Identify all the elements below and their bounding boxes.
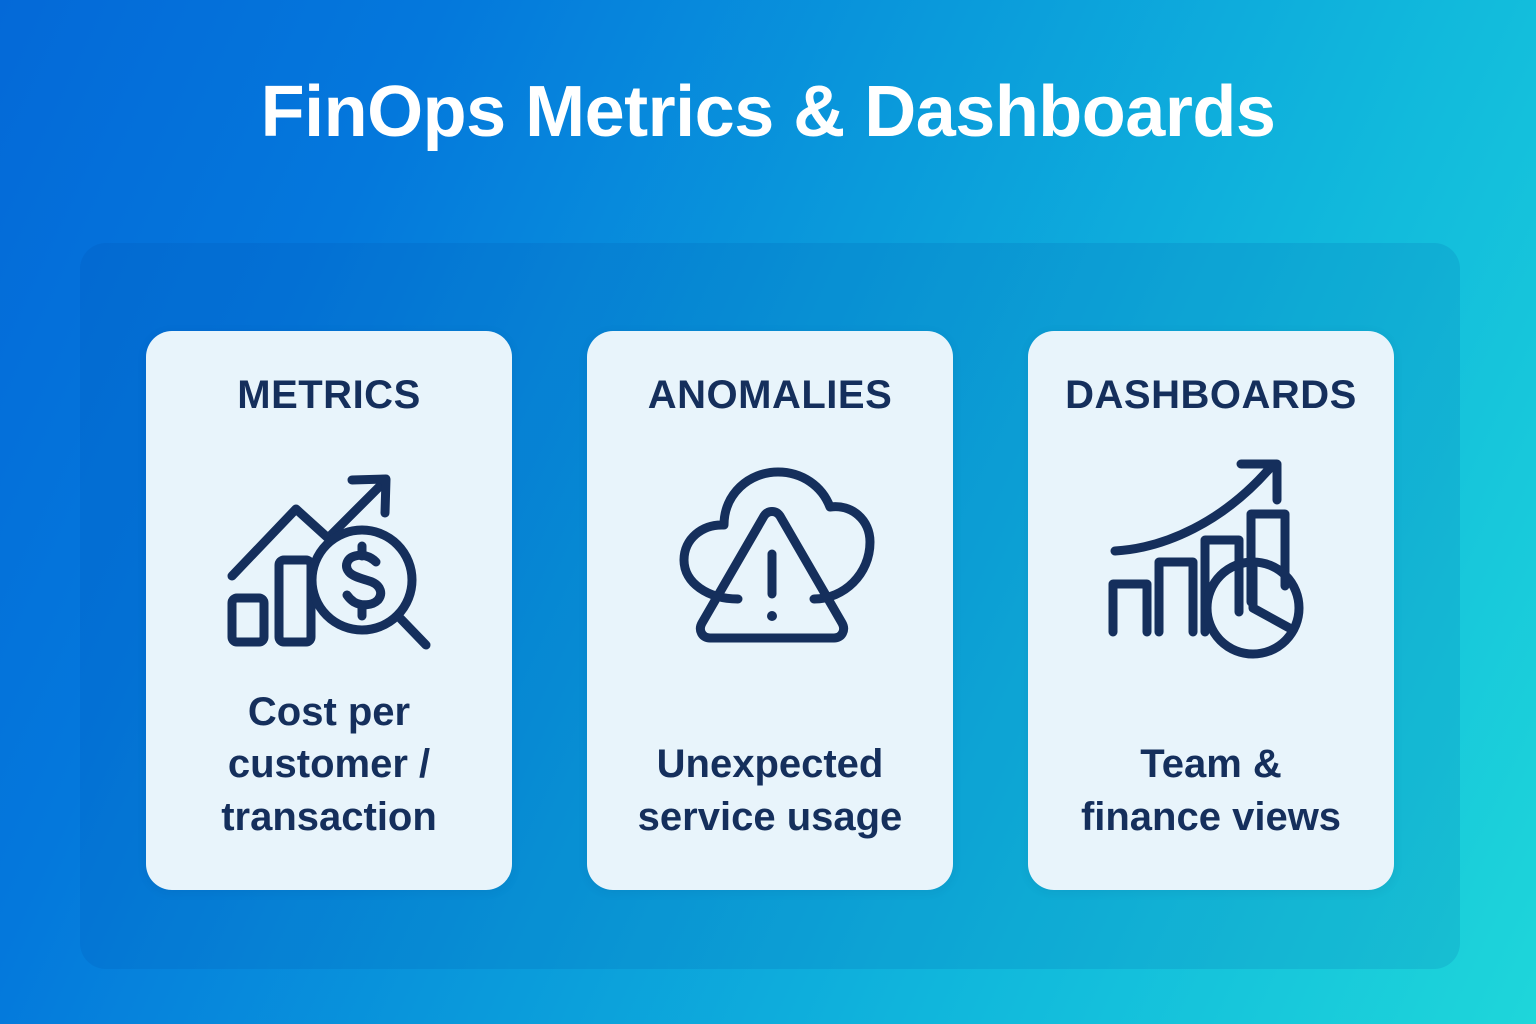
page-title: FinOps Metrics & Dashboards <box>261 76 1276 148</box>
card-anomalies-body: Unexpected service usage <box>603 738 937 844</box>
card-metrics-body: Cost per customer / transaction <box>162 686 496 844</box>
card-dashboards-heading: DASHBOARDS <box>1065 375 1357 415</box>
cards-row: METRICS Cost per customer / transac <box>146 331 1394 890</box>
cloud-warning-icon <box>664 457 876 657</box>
growth-chart-dollar-magnifier-icon <box>224 457 434 657</box>
card-metrics-heading: METRICS <box>237 375 421 415</box>
card-dashboards-body: Team & finance views <box>1044 738 1378 844</box>
card-anomalies-heading: ANOMALIES <box>648 375 893 415</box>
bar-chart-pie-growth-icon <box>1105 457 1317 657</box>
card-anomalies[interactable]: ANOMALIES Unexpected service usage <box>587 331 953 890</box>
card-metrics[interactable]: METRICS Cost per customer / transac <box>146 331 512 890</box>
card-dashboards[interactable]: DASHBOARDS Team & finance views <box>1028 331 1394 890</box>
title-bar: FinOps Metrics & Dashboards <box>0 0 1536 242</box>
